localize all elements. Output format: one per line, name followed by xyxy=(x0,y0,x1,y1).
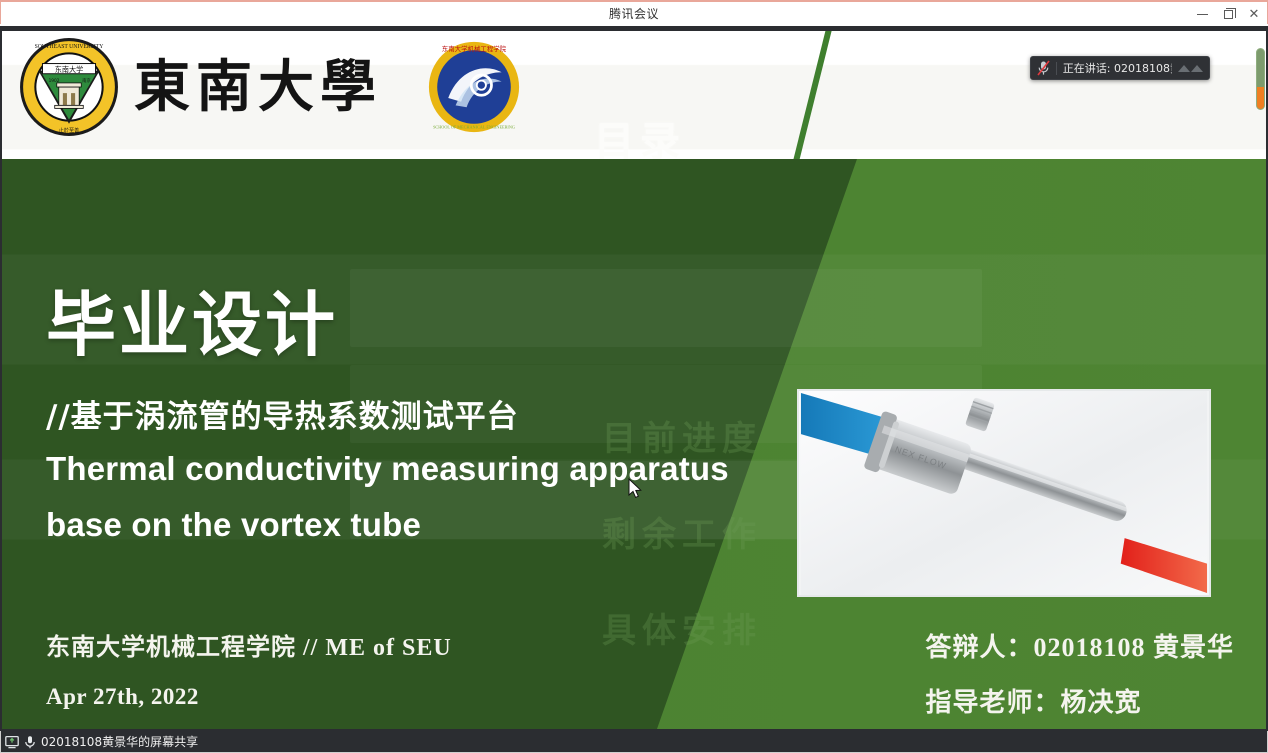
slide-footer-left: 东南大学机械工程学院 // ME of SEU Apr 27th, 2022 xyxy=(46,627,452,710)
header-diagonal-accent xyxy=(792,31,834,159)
toc-ghost-item-3: 具体安排 xyxy=(602,603,762,652)
pill-drag-handle[interactable] xyxy=(1178,65,1203,72)
shared-screen-stage: 东南大学 1902 南京 止於至善 SOUTHEAST UNIVERSITY xyxy=(0,26,1268,731)
slide-title-english: Thermal conductivity measuring apparatus… xyxy=(46,441,806,553)
svg-text:南京: 南京 xyxy=(82,77,91,84)
vortex-tube-photo: NEX FLOW xyxy=(797,389,1211,597)
window-title: 腾讯会议 xyxy=(609,5,659,22)
slide-header-band: 东南大学 1902 南京 止於至善 SOUTHEAST UNIVERSITY xyxy=(2,31,1266,159)
vortex-tube-illustration: NEX FLOW xyxy=(799,391,1209,595)
window-titlebar[interactable]: 腾讯会议 ✕ xyxy=(0,0,1268,24)
svg-text:1902: 1902 xyxy=(49,78,60,84)
vertical-scrollbar[interactable] xyxy=(1256,48,1265,110)
affiliation-text: 东南大学机械工程学院 // ME of SEU xyxy=(46,627,452,662)
speaker-label: 正在讲话: 02018108黄景华 xyxy=(1063,60,1172,76)
statusbar-label: 02018108黄景华的屏幕共享 xyxy=(41,733,198,750)
restore-icon xyxy=(1224,10,1233,19)
svg-text:东南大学机械工程学院: 东南大学机械工程学院 xyxy=(442,44,507,53)
ghost-band xyxy=(350,269,982,347)
presentation-slide: 东南大学 1902 南京 止於至善 SOUTHEAST UNIVERSITY xyxy=(2,31,1266,729)
slide-title-english-line2: base on the vortex tube xyxy=(46,497,806,553)
mechanical-engineering-seal-icon: 东南大学机械工程学院 SCHOOL OF MECHANICAL ENGINEER… xyxy=(428,41,520,133)
screen-share-statusbar: 02018108黄景华的屏幕共享 xyxy=(0,731,1268,753)
slide-subtitle-chinese: //基于涡流管的导热系数测试平台 xyxy=(46,391,519,436)
microphone-icon xyxy=(23,735,37,749)
maximize-button[interactable] xyxy=(1215,2,1241,26)
slide-title-english-line1: Thermal conductivity measuring apparatus xyxy=(46,441,806,497)
scrollbar-thumb[interactable] xyxy=(1257,87,1264,109)
minimize-button[interactable] xyxy=(1189,2,1215,26)
date-text: Apr 27th, 2022 xyxy=(46,684,452,710)
svg-text:SOUTHEAST UNIVERSITY: SOUTHEAST UNIVERSITY xyxy=(35,44,104,50)
svg-text:SCHOOL OF MECHANICAL ENGINEERI: SCHOOL OF MECHANICAL ENGINEERING xyxy=(433,124,515,129)
tencent-meeting-window: 腾讯会议 ✕ xyxy=(0,0,1268,753)
close-button[interactable]: ✕ xyxy=(1241,2,1267,26)
svg-text:止於至善: 止於至善 xyxy=(59,127,79,134)
minimize-icon xyxy=(1197,14,1208,15)
active-speaker-indicator[interactable]: 正在讲话: 02018108黄景华 xyxy=(1030,56,1210,80)
university-name-calligraphy: 東南大學 xyxy=(134,52,394,122)
screen-share-icon xyxy=(5,735,19,749)
close-icon: ✕ xyxy=(1249,8,1260,21)
svg-text:东南大学: 东南大学 xyxy=(55,65,84,74)
slide-body: 目前进度 剩余工作 具体安排 毕业设计 //基于涡流管的导热系数测试平台 The… xyxy=(2,159,1266,729)
advisor-text: 指导老师：杨决宽 xyxy=(925,682,1234,719)
section-heading: 目录 xyxy=(594,109,686,159)
mic-muted-icon xyxy=(1037,60,1050,76)
southeast-university-seal-icon: 东南大学 1902 南京 止於至善 SOUTHEAST UNIVERSITY xyxy=(18,36,120,138)
window-controls: ✕ xyxy=(1189,2,1267,26)
pill-divider xyxy=(1056,62,1057,75)
logo-group: 东南大学 1902 南京 止於至善 SOUTHEAST UNIVERSITY xyxy=(18,36,520,138)
slide-title-chinese: 毕业设计 xyxy=(46,269,338,370)
presenter-text: 答辩人：02018108 黄景华 xyxy=(925,627,1234,664)
slide-footer-right: 答辩人：02018108 黄景华 指导老师：杨决宽 xyxy=(925,627,1234,719)
svg-text:東南大學: 東南大學 xyxy=(134,54,382,120)
